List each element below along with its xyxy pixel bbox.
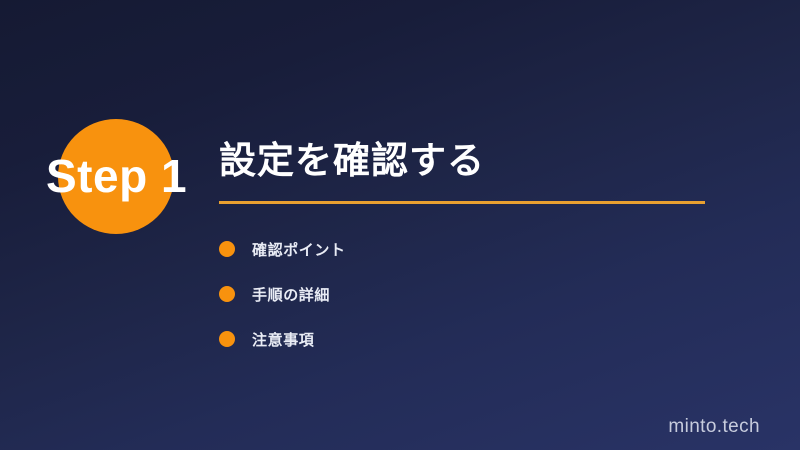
dot-icon (219, 331, 235, 347)
list-item-label: 確認ポイント (252, 239, 346, 260)
footer-brand: minto.tech (668, 416, 760, 438)
title-divider (219, 201, 705, 204)
dot-icon (219, 241, 235, 257)
slide-title: 設定を確認する (219, 140, 719, 183)
title-block: 設定を確認する (219, 140, 719, 204)
list-item: 確認ポイント (219, 237, 699, 261)
bullet-list: 確認ポイント 手順の詳細 注意事項 (219, 237, 699, 372)
list-item: 注意事項 (219, 327, 699, 351)
list-item-label: 手順の詳細 (252, 284, 330, 305)
list-item: 手順の詳細 (219, 282, 699, 306)
slide-canvas: Step 1 設定を確認する 確認ポイント 手順の詳細 注意事項 minto.t… (0, 0, 800, 450)
dot-icon (219, 286, 235, 302)
list-item-label: 注意事項 (252, 329, 314, 350)
